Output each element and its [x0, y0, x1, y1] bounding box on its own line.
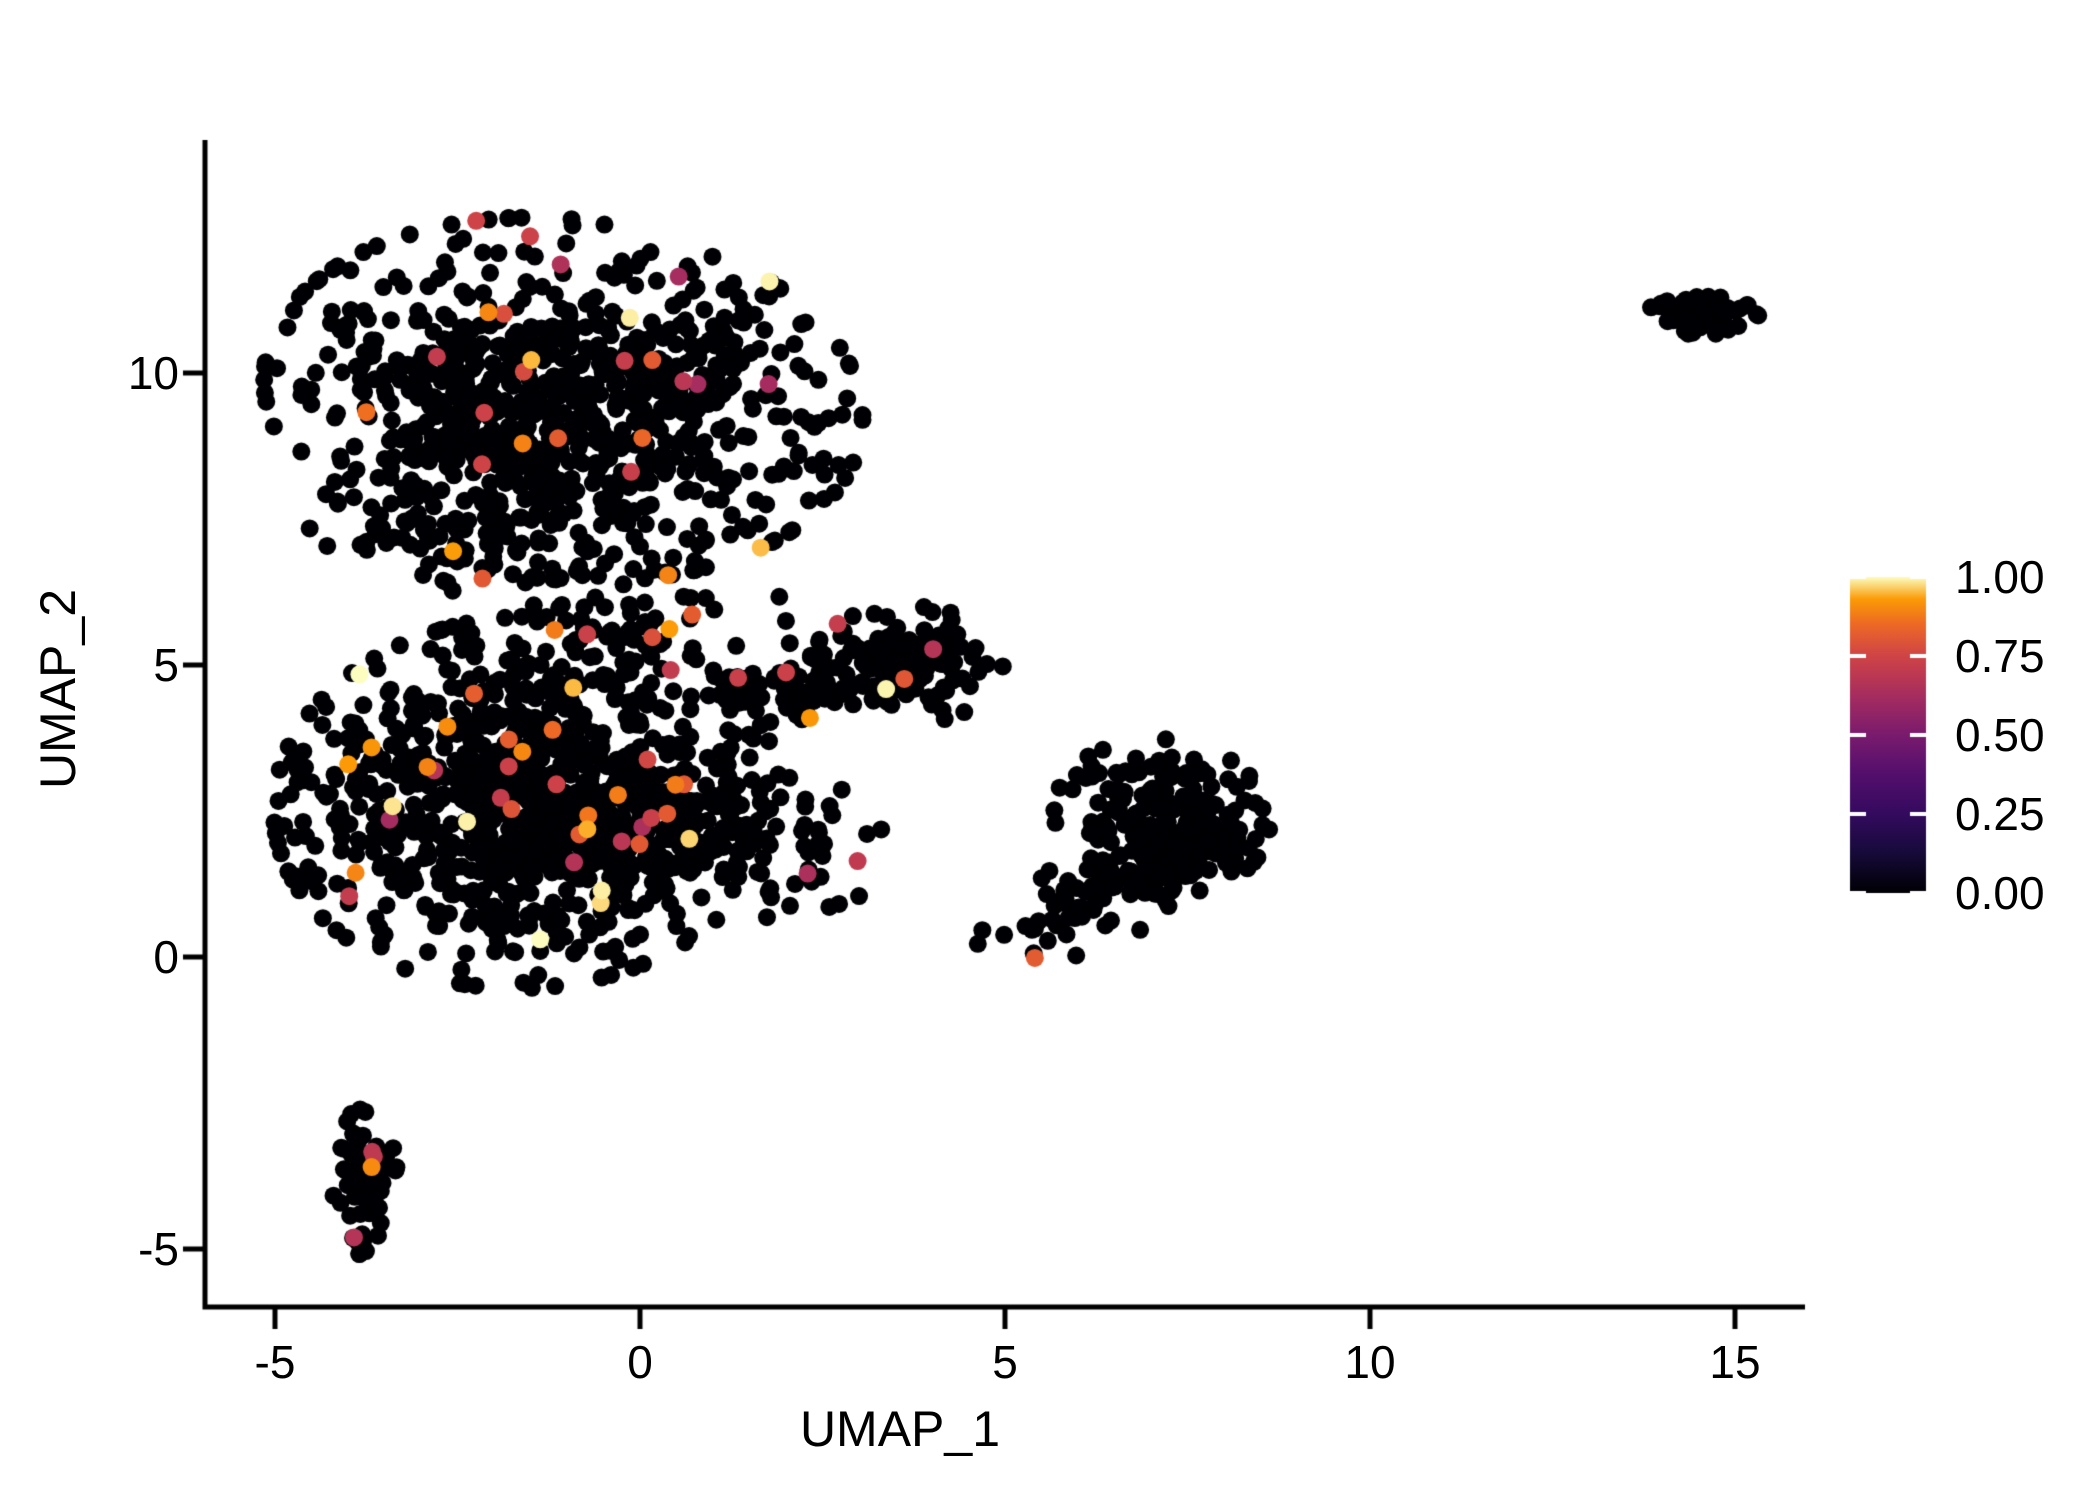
- umap-feature-plot: ARF4-AS1 UMAP_1 UMAP_2 -5051015 -50510 1…: [0, 0, 2100, 1500]
- y-tick-label: 0: [153, 930, 179, 984]
- legend-tick-label: 0.00: [1955, 866, 2045, 920]
- scatter-plot-canvas: [0, 0, 2100, 1500]
- y-axis-title: UMAP_2: [29, 369, 87, 1009]
- x-tick-label: 15: [1709, 1335, 1760, 1389]
- legend-tick-label: 0.75: [1955, 629, 2045, 683]
- legend-tick-label: 0.25: [1955, 787, 2045, 841]
- x-tick-label: -5: [255, 1335, 296, 1389]
- y-tick-label: -5: [138, 1222, 179, 1276]
- x-axis-title: UMAP_1: [0, 1400, 1800, 1458]
- x-tick-label: 10: [1344, 1335, 1395, 1389]
- x-tick-label: 0: [627, 1335, 653, 1389]
- x-tick-label: 5: [992, 1335, 1018, 1389]
- y-tick-label: 10: [128, 346, 179, 400]
- y-tick-label: 5: [153, 638, 179, 692]
- legend-tick-label: 0.50: [1955, 708, 2045, 762]
- legend-tick-label: 1.00: [1955, 550, 2045, 604]
